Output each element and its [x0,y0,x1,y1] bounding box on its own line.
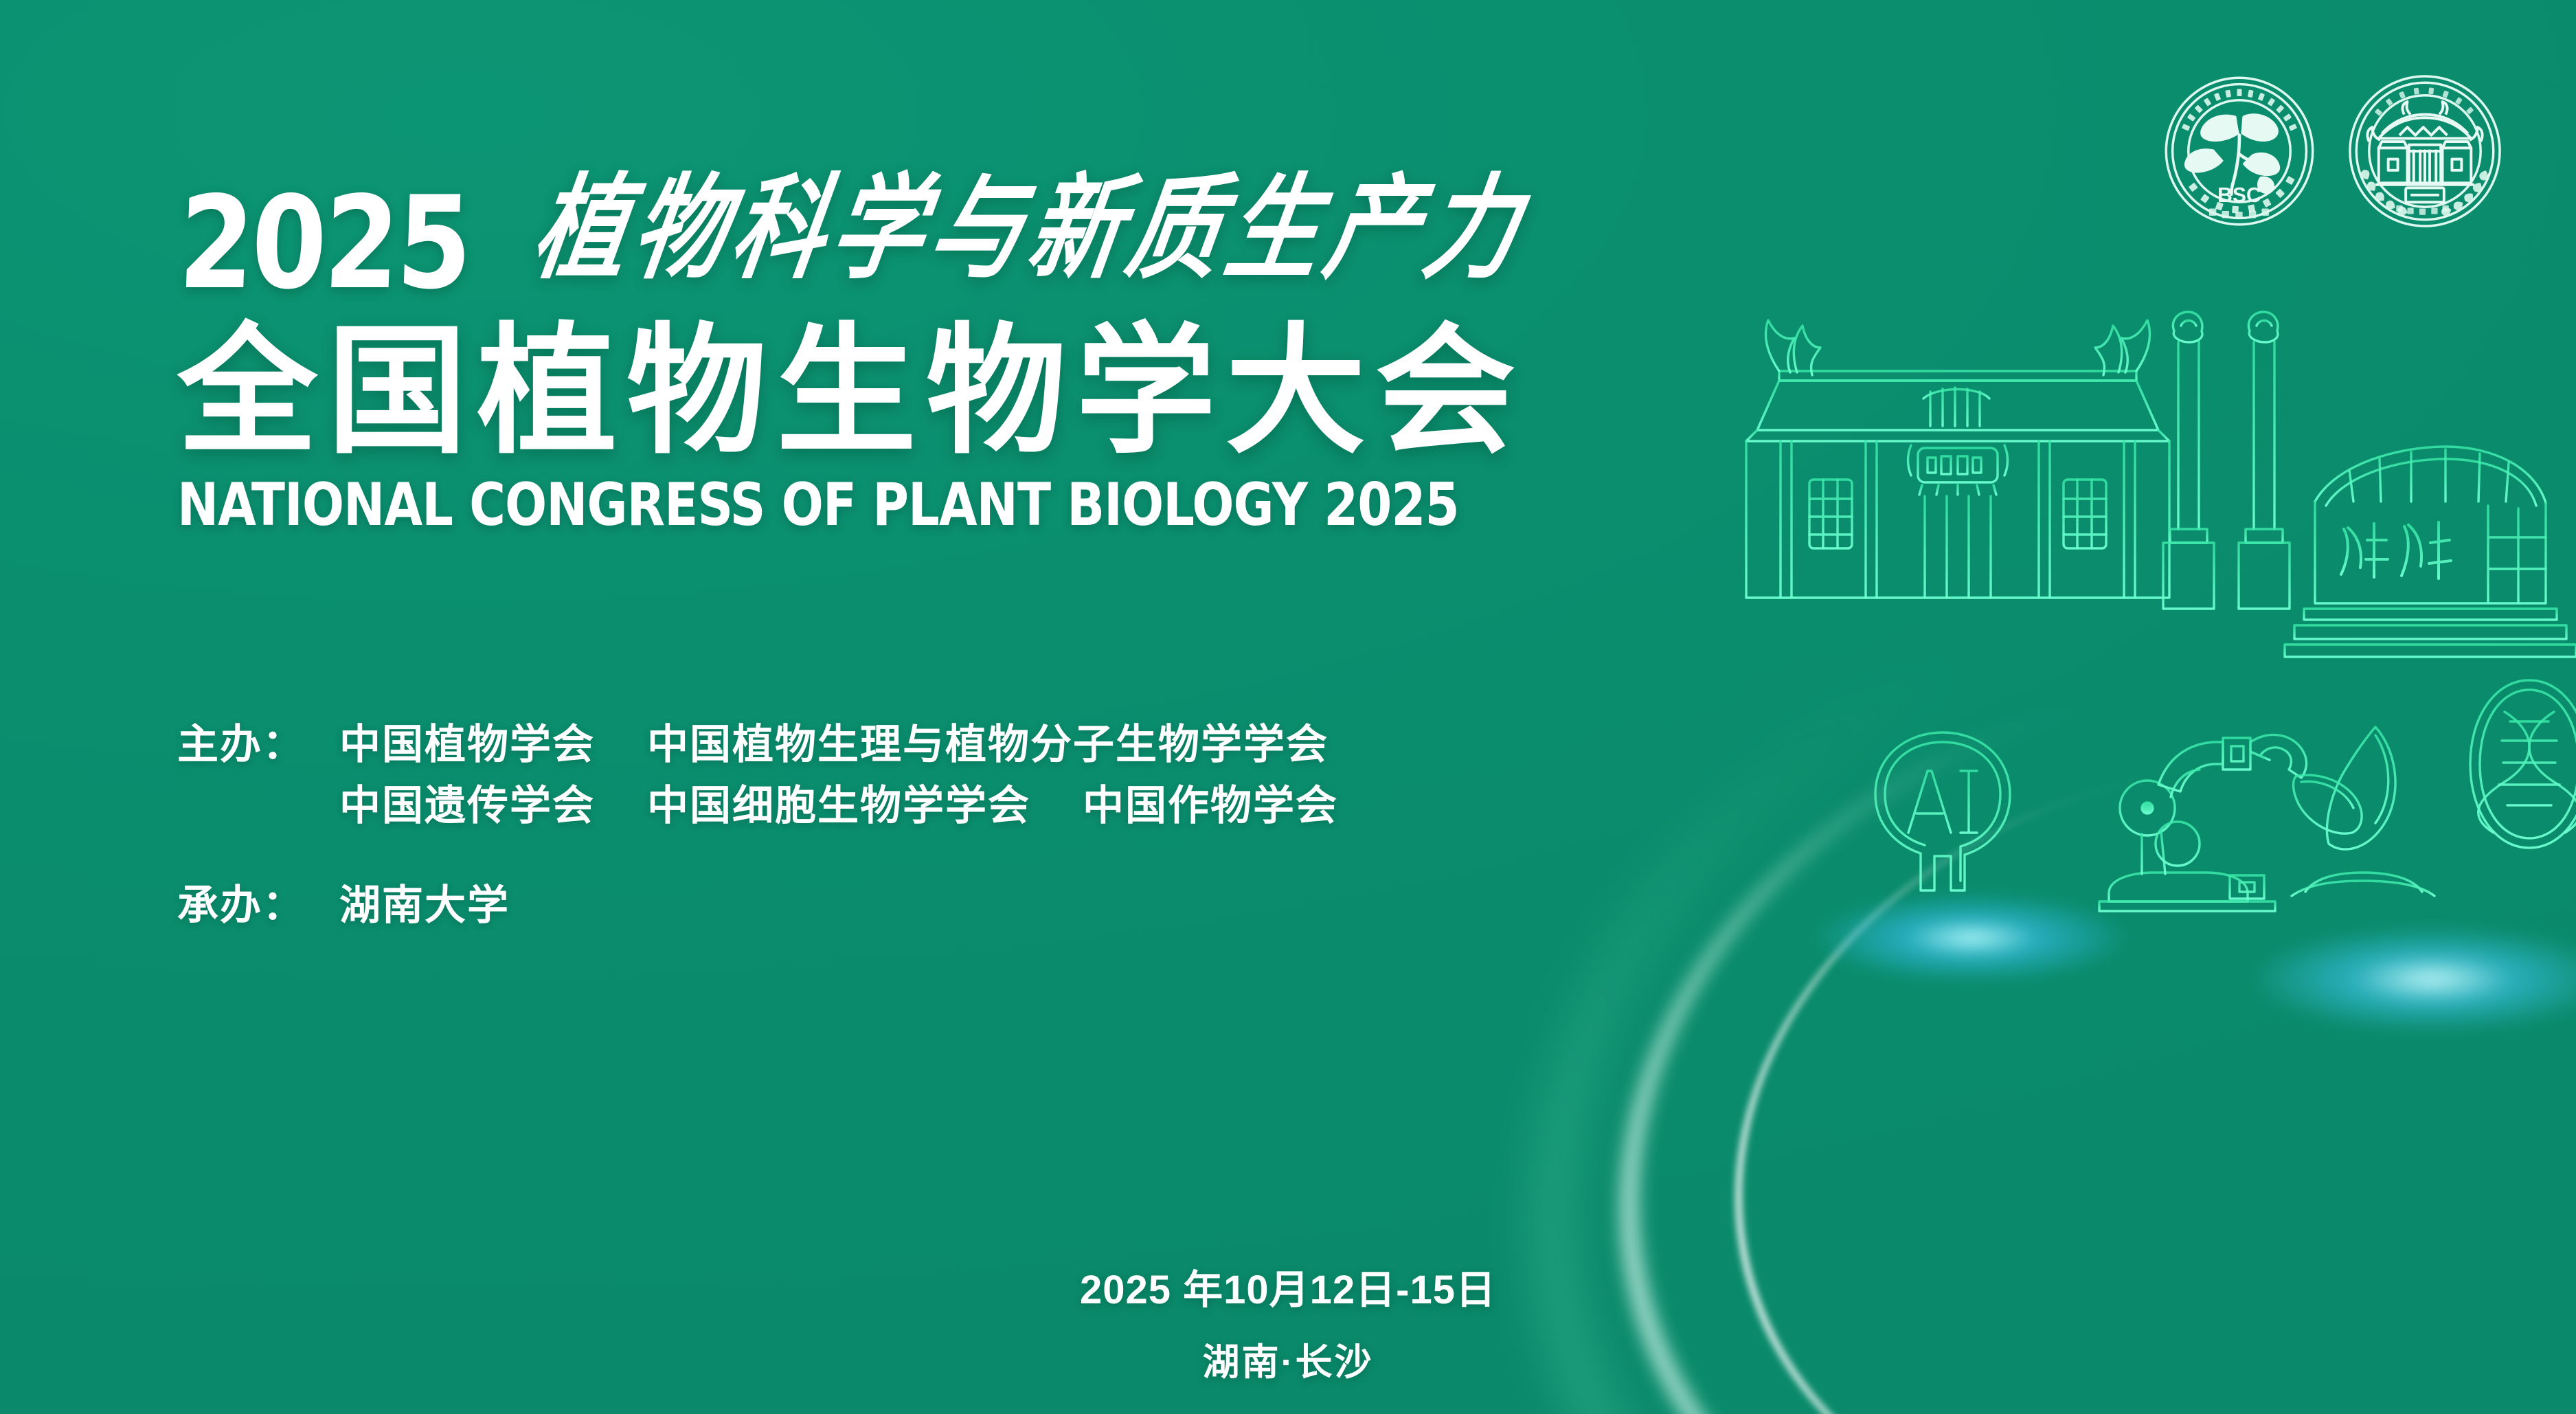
sponsor-row-1: 主办： 中国植物学会 中国植物生理与植物分子生物学学会 [177,715,1338,776]
host-item: 湖南大学 [339,875,510,936]
academy-light-glow [1814,893,2129,983]
footer-block: 2025 年10月12日-15日 湖南·长沙 [0,1257,2576,1386]
headline-top-row: 2025 植物科学与新质生产力 [177,190,1555,297]
conference-poster: BSC [0,0,2576,1414]
hunan-university-logo [2345,71,2505,231]
organizer-block: 主办： 中国植物学会 中国植物生理与植物分子生物学学会 主办： 中国遗传学会 中… [177,715,1338,936]
organizer-item: 中国植物生理与植物分子生物学学会 [647,715,1329,776]
sponsor-items-2: 中国遗传学会 中国细胞生物学学会 中国作物学会 [339,776,1338,837]
logo-group: BSC [2160,71,2505,231]
sponsor-row-2: 主办： 中国遗传学会 中国细胞生物学学会 中国作物学会 [177,776,1338,837]
host-label: 承办： [177,875,339,936]
event-location: 湖南·长沙 [0,1332,2576,1386]
sponsor-label: 主办： [177,715,339,776]
botanical-society-of-china-logo: BSC [2160,71,2319,231]
organizer-item: 中国作物学会 [1083,776,1338,837]
theme-calligraphy-text: 植物科学与新质生产力 [525,172,1534,298]
bsc-abbr-text: BSC [2217,184,2261,207]
year-text: 2025 [177,190,471,297]
headline-block: 2025 植物科学与新质生产力 全国植物生物学大会 NATIONAL CONGR… [177,190,1555,535]
organizer-item: 中国遗传学会 [339,776,595,837]
organizer-item: 中国植物学会 [339,715,595,776]
host-row: 承办： 湖南大学 [177,875,1338,936]
host-items: 湖南大学 [339,875,510,936]
page-subtitle-en: NATIONAL CONGRESS OF PLANT BIOLOGY 2025 [177,475,1459,535]
organizer-item: 中国细胞生物学学会 [647,776,1030,837]
event-date: 2025 年10月12日-15日 [0,1257,2576,1315]
page-title: 全国植物生物学大会 [177,320,1555,463]
sponsor-items-1: 中国植物学会 中国植物生理与植物分子生物学学会 [339,715,1329,776]
